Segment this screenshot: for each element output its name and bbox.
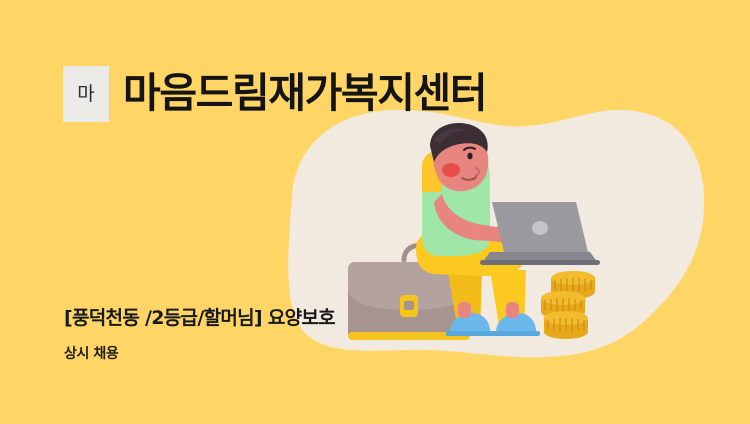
- company-logo-initial: 마: [77, 85, 94, 104]
- illustration-person-with-laptop: [330, 120, 630, 360]
- recruitment-status-label: 상시 채용: [64, 343, 118, 363]
- company-header: 마 마음드림재가복지센터: [63, 66, 486, 122]
- job-posting-card: 마 마음드림재가복지센터: [0, 0, 750, 424]
- company-name: 마음드림재가복지센터: [123, 72, 486, 115]
- shoes: [446, 302, 540, 336]
- company-logo-badge: 마: [63, 66, 109, 122]
- coin-stacks: [541, 271, 595, 339]
- job-title: [풍덕천동 /2등급/할머님] 요양보호: [64, 303, 335, 330]
